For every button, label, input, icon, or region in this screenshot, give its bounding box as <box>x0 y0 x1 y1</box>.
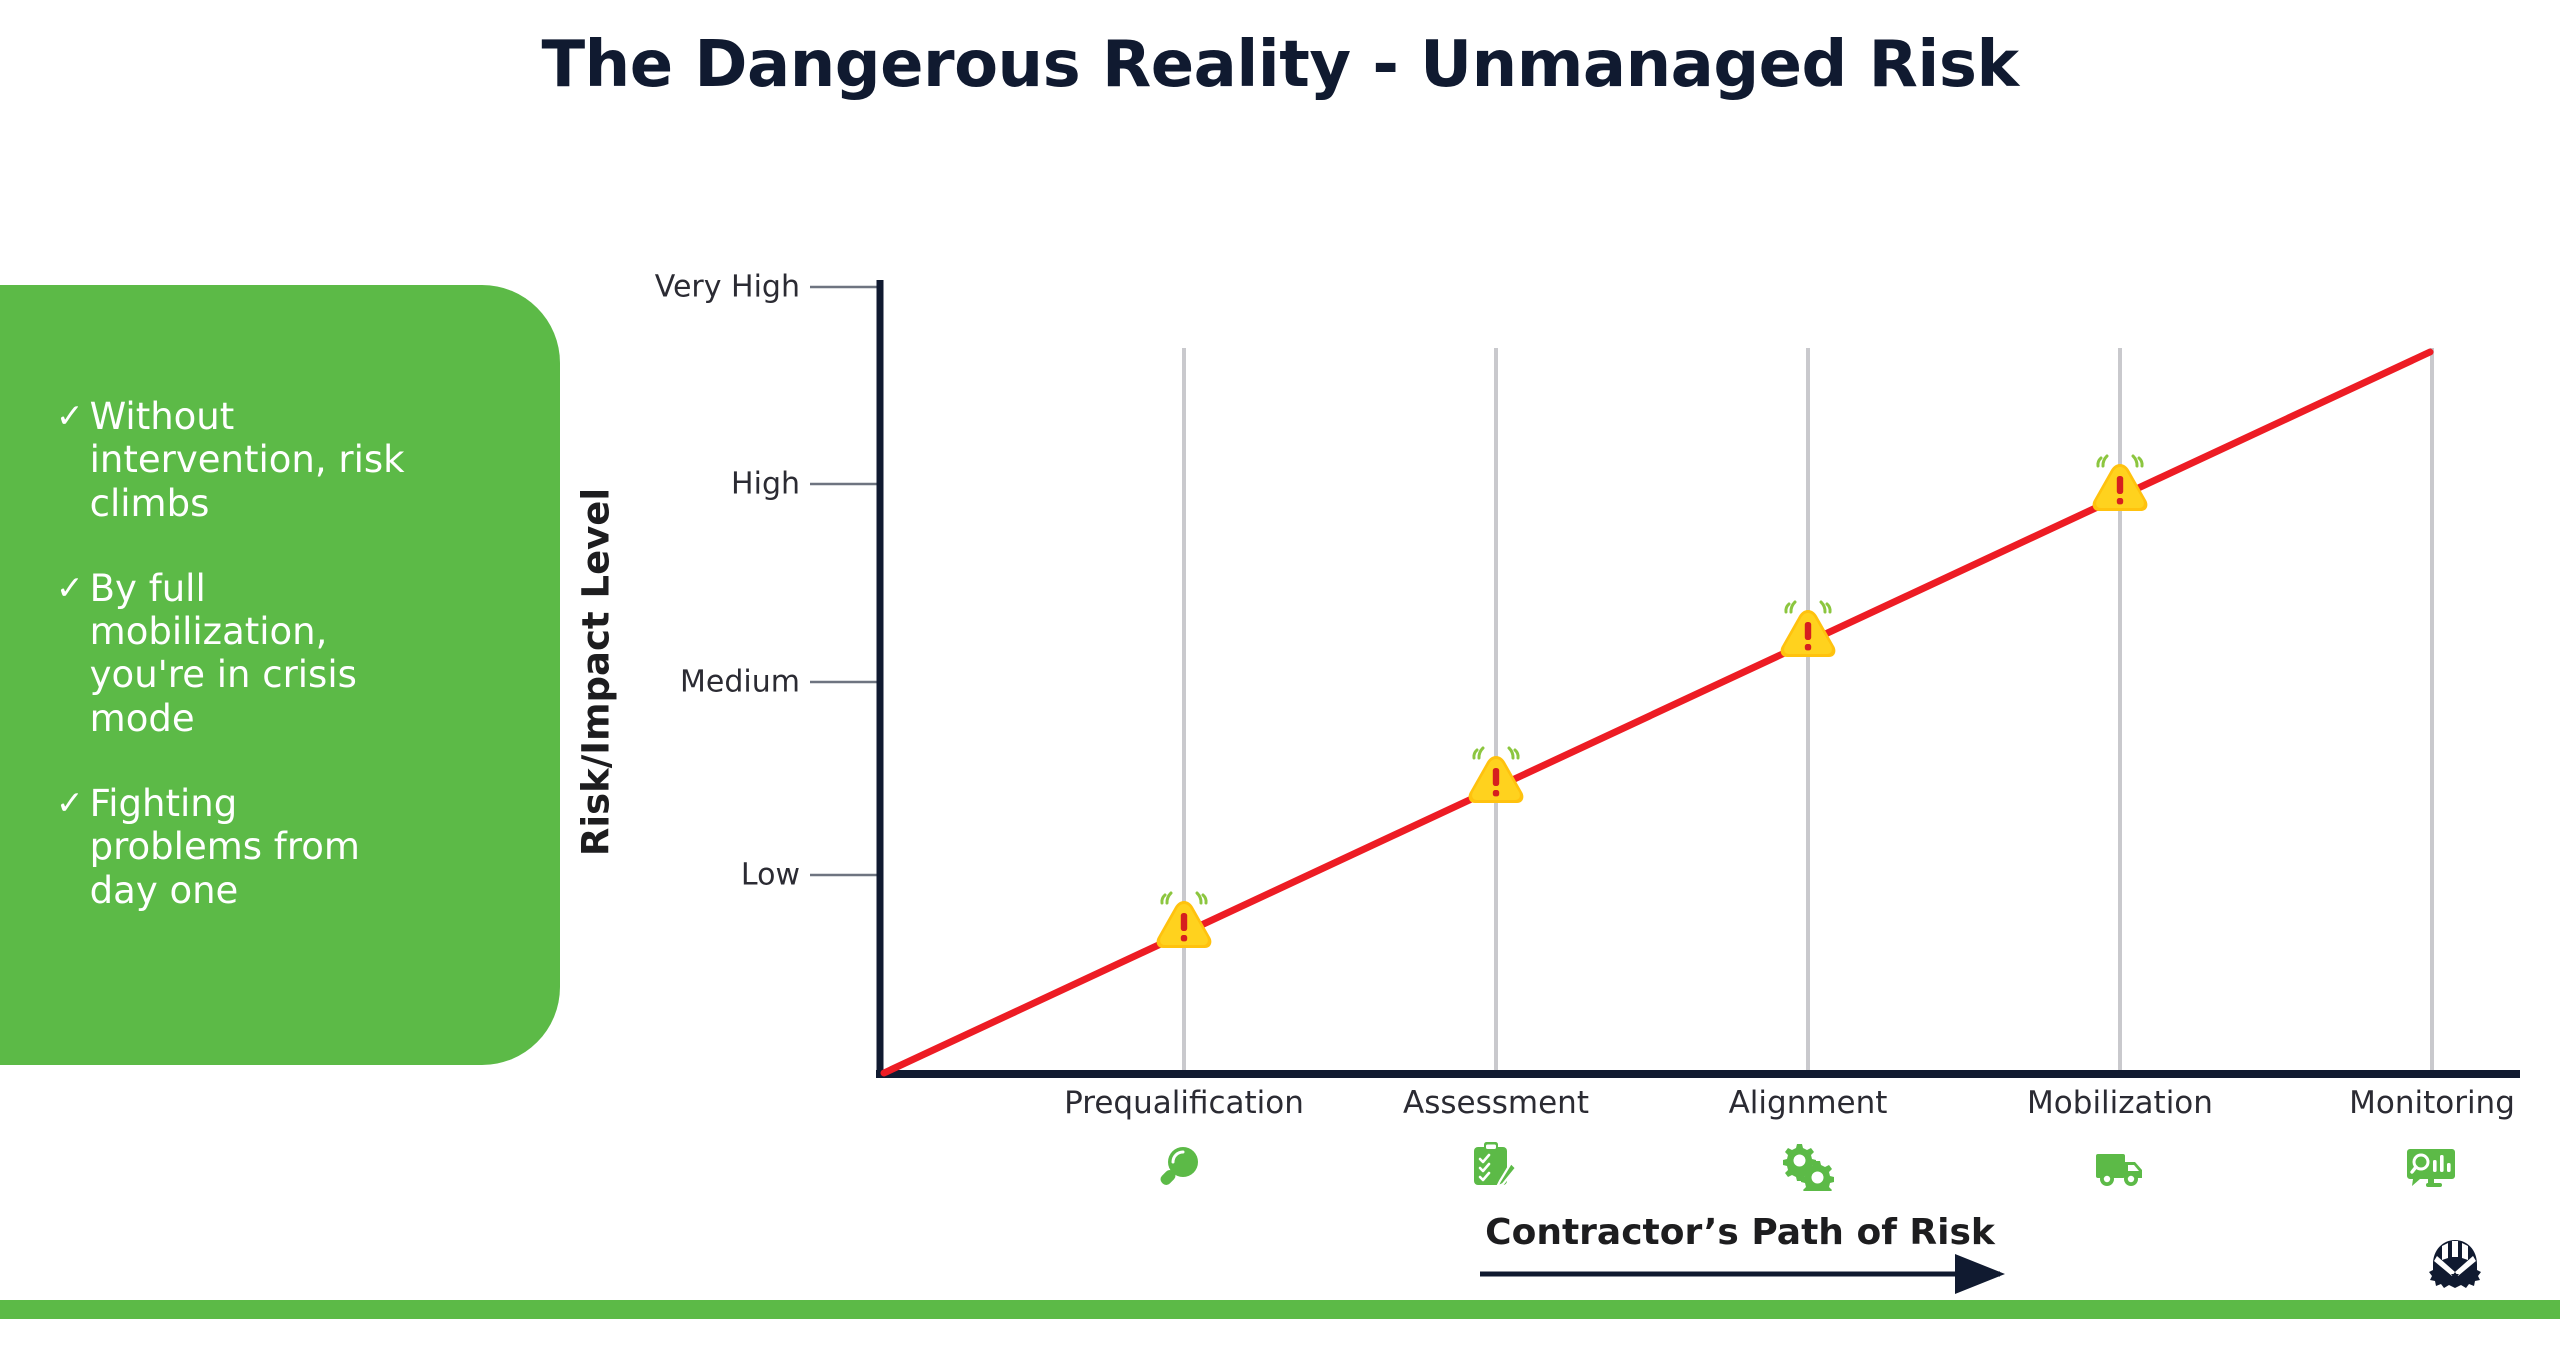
check-icon: ✓ <box>56 782 84 823</box>
list-item: ✓ Without intervention, risk climbs <box>56 395 504 525</box>
stage-alignment[interactable]: Alignment <box>1658 1088 1958 1197</box>
y-tick-label-medium: Medium <box>560 665 800 700</box>
list-item-label: By full mobilization, you're in crisis m… <box>90 567 420 740</box>
truck-icon <box>1970 1135 2270 1197</box>
stage-label: Monitoring <box>2282 1088 2560 1119</box>
monitor-analytics-icon <box>2282 1135 2560 1197</box>
gears-icon <box>1658 1135 1958 1197</box>
check-icon: ✓ <box>56 567 84 608</box>
y-axis-ticks <box>810 287 878 875</box>
hard-hat-logo <box>2425 1238 2485 1290</box>
page-title: The Dangerous Reality - Unmanaged Risk <box>0 28 2560 102</box>
y-tick-label-high: High <box>560 467 800 502</box>
stage-prequalification[interactable]: Prequalification <box>1034 1088 1334 1197</box>
x-axis-title: Contractor’s Path of Risk <box>1485 1212 1995 1253</box>
list-item: ✓ By full mobilization, you're in crisis… <box>56 567 504 740</box>
stage-mobilization[interactable]: Mobilization <box>1970 1088 2270 1197</box>
chart-gridlines <box>1184 348 2432 1074</box>
stage-assessment[interactable]: Assessment <box>1346 1088 1646 1197</box>
y-tick-label-low: Low <box>560 858 800 893</box>
stage-monitoring[interactable]: Monitoring <box>2282 1088 2560 1197</box>
check-icon: ✓ <box>56 395 84 436</box>
callout-panel: ✓ Without intervention, risk climbs ✓ By… <box>0 285 560 1065</box>
warning-marker <box>2093 456 2148 511</box>
warning-marker <box>1157 893 1212 948</box>
list-item: ✓ Fighting problems from day one <box>56 782 504 912</box>
y-tick-label-very-high: Very High <box>560 270 800 305</box>
footer-accent-bar <box>0 1300 2560 1319</box>
warning-marker <box>1469 748 1524 803</box>
stage-label: Alignment <box>1658 1088 1958 1119</box>
list-item-label: Without intervention, risk climbs <box>90 395 420 525</box>
stage-label: Mobilization <box>1970 1088 2270 1119</box>
stage-label: Prequalification <box>1034 1088 1334 1119</box>
clipboard-check-icon <box>1346 1135 1646 1197</box>
list-item-label: Fighting problems from day one <box>90 782 420 912</box>
risk-trend-line <box>884 352 2430 1073</box>
stage-label: Assessment <box>1346 1088 1646 1119</box>
warning-marker <box>1781 602 1836 657</box>
magnifier-icon <box>1034 1135 1334 1197</box>
